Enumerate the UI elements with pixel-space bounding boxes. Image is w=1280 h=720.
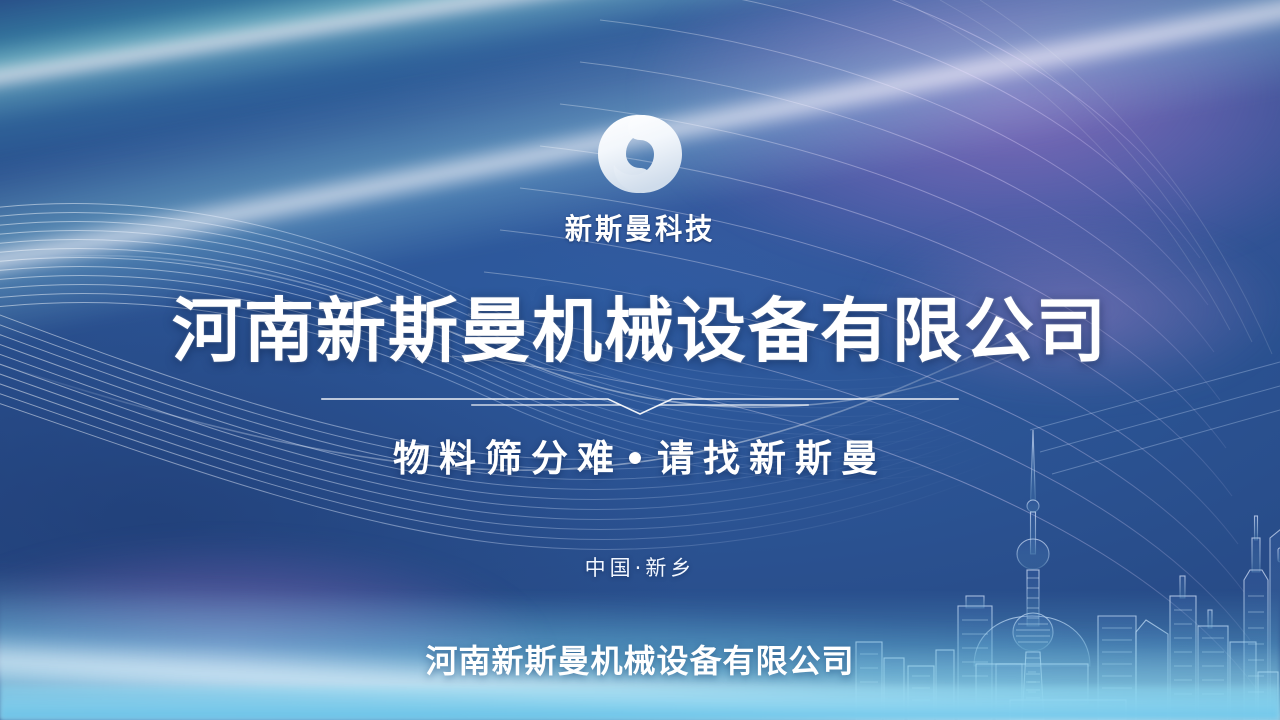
brand-logo: 新斯曼科技 bbox=[0, 108, 1280, 248]
presentation-slide: 新斯曼科技 河南新斯曼机械设备有限公司 物料筛分难请找新斯曼 中国·新乡 河南新… bbox=[0, 0, 1280, 720]
slide-subtitle: 物料筛分难请找新斯曼 bbox=[0, 428, 1280, 482]
logo-wordmark: 新斯曼科技 bbox=[565, 206, 715, 248]
location-label: 中国·新乡 bbox=[0, 552, 1280, 582]
subtitle-separator-dot bbox=[629, 452, 641, 464]
subtitle-right: 请找新斯曼 bbox=[657, 437, 887, 480]
bottom-light-band bbox=[0, 686, 1280, 720]
footer-company-name: 河南新斯曼机械设备有限公司 bbox=[0, 636, 1280, 682]
page-title: 河南新斯曼机械设备有限公司 bbox=[0, 296, 1280, 366]
ornamental-divider bbox=[320, 392, 960, 420]
subtitle-left: 物料筛分难 bbox=[393, 437, 623, 480]
interlocking-s-monogram-icon bbox=[588, 108, 692, 200]
